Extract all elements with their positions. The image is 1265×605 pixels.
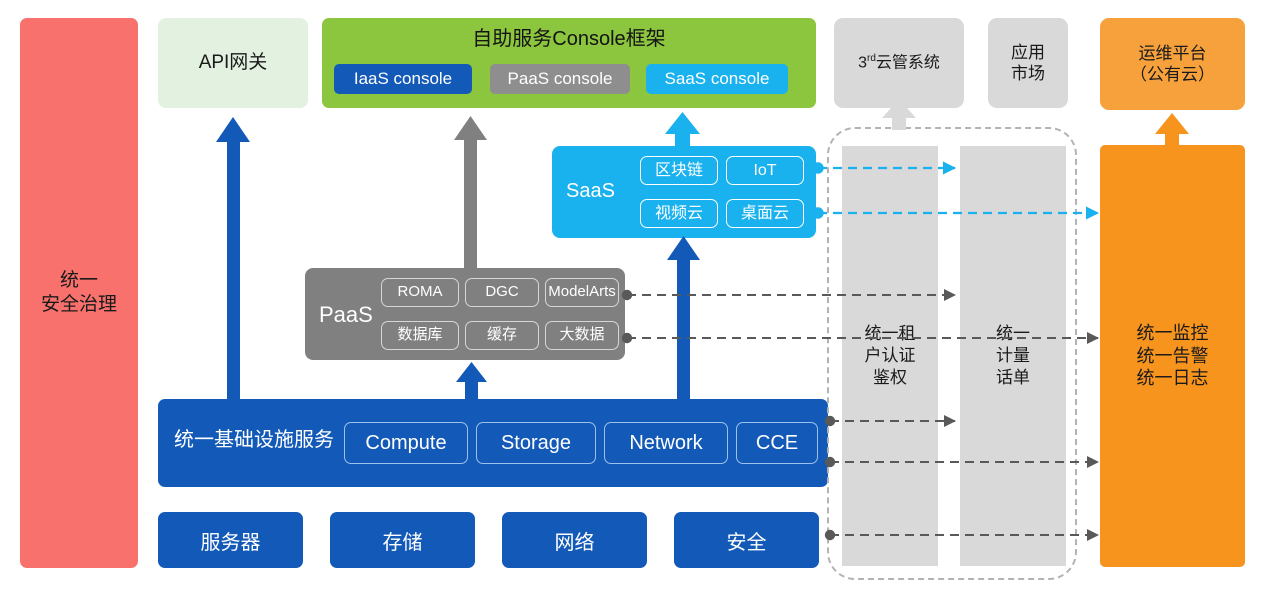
infra-service-network[interactable]: Network <box>604 422 728 464</box>
unified-tenant-auth-line3: 鉴权 <box>865 367 916 389</box>
app-market-label: 应用 市场 <box>1011 42 1045 85</box>
arrow-infra-to-paas <box>456 362 487 399</box>
arrow-ops-column-to-ops-platform <box>1155 113 1189 146</box>
infra-service-network-label: Network <box>629 431 702 456</box>
security-governance-column[interactable]: 统一 安全治理 <box>20 18 138 568</box>
resource-storage-box[interactable]: 存储 <box>330 512 475 568</box>
third-party-cloud-label: 3rd云管系统 <box>858 53 940 73</box>
paas-service-cache[interactable]: 缓存 <box>465 321 539 350</box>
app-market-line1: 应用 <box>1011 42 1045 63</box>
infra-service-cce-label: CCE <box>756 431 798 456</box>
ops-monitoring-column[interactable]: 统一监控 统一告警 统一日志 <box>1100 145 1245 567</box>
infra-service-cce[interactable]: CCE <box>736 422 818 464</box>
ops-platform-label: 运维平台 （公有云） <box>1130 43 1215 86</box>
arrow-infra-to-api-gateway <box>216 117 250 399</box>
paas-service-modelarts[interactable]: ModelArts <box>545 278 619 307</box>
unified-tenant-auth-line2: 户认证 <box>865 345 916 367</box>
api-gateway-box[interactable]: API网关 <box>158 18 308 108</box>
architecture-diagram: 统一 安全治理 API网关 自助服务Console框架 IaaS console… <box>0 0 1265 605</box>
infrastructure-layer-box[interactable]: 统一基础设施服务 Compute Storage Network CCE <box>158 399 828 487</box>
security-governance-label: 统一 安全治理 <box>41 269 117 317</box>
arrow-infra-to-saas <box>667 236 700 399</box>
app-market-box[interactable]: 应用 市场 <box>988 18 1068 108</box>
resource-server-label: 服务器 <box>201 526 261 555</box>
paas-layer-box[interactable]: PaaS ROMA DGC ModelArts 数据库 缓存 大数据 <box>305 268 625 360</box>
paas-service-cache-label: 缓存 <box>487 326 517 345</box>
ops-platform-box[interactable]: 运维平台 （公有云） <box>1100 18 1245 110</box>
infra-service-compute-label: Compute <box>365 431 446 456</box>
unified-tenant-auth-label: 统一租 户认证 鉴权 <box>865 323 916 389</box>
iaas-console-chip[interactable]: IaaS console <box>334 64 472 94</box>
ops-monitoring-line1: 统一监控 <box>1137 322 1209 345</box>
paas-service-dgc-label: DGC <box>485 283 518 302</box>
paas-service-database[interactable]: 数据库 <box>381 321 459 350</box>
resource-server-box[interactable]: 服务器 <box>158 512 303 568</box>
third-party-cloud-prefix: 3 <box>858 54 867 71</box>
ops-monitoring-label: 统一监控 统一告警 统一日志 <box>1137 322 1209 390</box>
unified-metering-column[interactable]: 统一 计量 话单 <box>960 146 1066 566</box>
paas-layer-label: PaaS <box>319 301 373 329</box>
saas-service-desktop-cloud-label: 桌面云 <box>741 204 789 224</box>
saas-console-chip[interactable]: SaaS console <box>646 64 788 94</box>
app-market-line2: 市场 <box>1011 63 1045 84</box>
ops-platform-line1: 运维平台 <box>1130 43 1215 64</box>
paas-console-label: PaaS console <box>508 68 613 89</box>
resource-storage-label: 存储 <box>383 526 423 555</box>
saas-service-iot-label: IoT <box>753 161 776 181</box>
saas-layer-label: SaaS <box>566 179 615 204</box>
paas-service-dgc[interactable]: DGC <box>465 278 539 307</box>
unified-tenant-auth-column[interactable]: 统一租 户认证 鉴权 <box>842 146 938 566</box>
ops-monitoring-line2: 统一告警 <box>1137 345 1209 368</box>
resource-security-label: 安全 <box>727 526 767 555</box>
third-party-cloud-management-box[interactable]: 3rd云管系统 <box>834 18 964 108</box>
saas-console-label: SaaS console <box>665 68 770 89</box>
paas-service-bigdata[interactable]: 大数据 <box>545 321 619 350</box>
saas-service-video-cloud-label: 视频云 <box>655 204 703 224</box>
paas-service-bigdata-label: 大数据 <box>559 326 604 345</box>
arrow-paas-to-console <box>454 116 487 268</box>
unified-tenant-auth-line1: 统一租 <box>865 323 916 345</box>
saas-service-blockchain[interactable]: 区块链 <box>640 156 718 185</box>
console-framework-box[interactable]: 自助服务Console框架 IaaS console PaaS console … <box>322 18 816 108</box>
ops-monitoring-line3: 统一日志 <box>1137 367 1209 390</box>
infra-service-storage[interactable]: Storage <box>476 422 596 464</box>
arrow-saas-to-saas-console <box>665 112 700 148</box>
unified-metering-label: 统一 计量 话单 <box>996 323 1030 389</box>
resource-network-box[interactable]: 网络 <box>502 512 647 568</box>
resource-security-box[interactable]: 安全 <box>674 512 819 568</box>
security-governance-line2: 安全治理 <box>41 293 117 317</box>
unified-metering-line2: 计量 <box>996 345 1030 367</box>
iaas-console-label: IaaS console <box>354 68 452 89</box>
third-party-cloud-suffix: 云管系统 <box>876 54 940 71</box>
paas-console-chip[interactable]: PaaS console <box>490 64 630 94</box>
infra-service-compute[interactable]: Compute <box>344 422 468 464</box>
unified-metering-line3: 话单 <box>996 367 1030 389</box>
console-framework-title: 自助服务Console框架 <box>322 27 816 52</box>
unified-metering-line1: 统一 <box>996 323 1030 345</box>
paas-service-roma[interactable]: ROMA <box>381 278 459 307</box>
saas-service-video-cloud[interactable]: 视频云 <box>640 199 718 228</box>
saas-service-iot[interactable]: IoT <box>726 156 804 185</box>
paas-service-modelarts-label: ModelArts <box>548 283 616 302</box>
ops-platform-line2: （公有云） <box>1130 64 1215 85</box>
resource-network-label: 网络 <box>555 526 595 555</box>
third-party-cloud-superscript: rd <box>867 53 876 64</box>
saas-service-blockchain-label: 区块链 <box>655 161 703 181</box>
security-governance-line1: 统一 <box>41 269 117 293</box>
api-gateway-label: API网关 <box>199 51 268 75</box>
infra-service-storage-label: Storage <box>501 431 571 456</box>
saas-layer-box[interactable]: SaaS 区块链 IoT 视频云 桌面云 <box>552 146 816 238</box>
saas-service-desktop-cloud[interactable]: 桌面云 <box>726 199 804 228</box>
paas-service-roma-label: ROMA <box>398 283 443 302</box>
paas-service-database-label: 数据库 <box>397 326 442 345</box>
infrastructure-layer-label: 统一基础设施服务 <box>174 428 334 453</box>
